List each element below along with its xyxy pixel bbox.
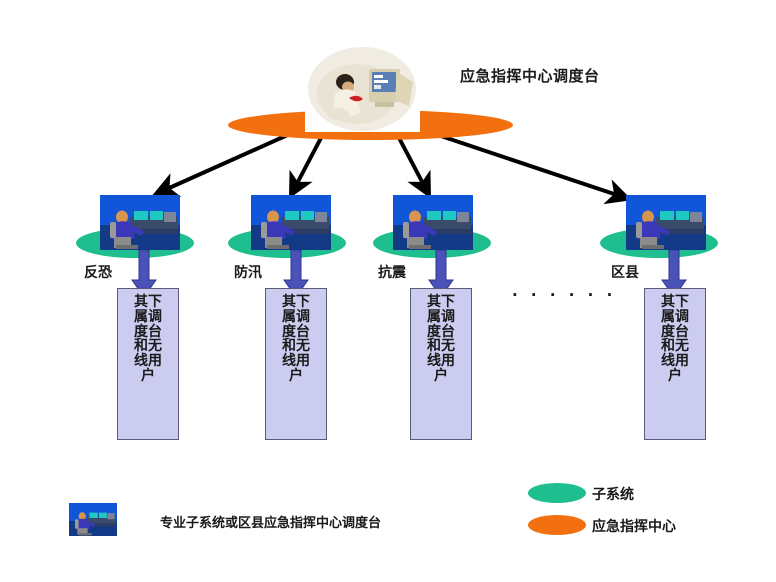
downstream-box-4[interactable]: 其下属调度台和无线用户	[644, 288, 706, 440]
downstream-box-2[interactable]: 其下属调度台和无线用户	[265, 288, 327, 440]
downstream-box-text: 其下属调度台和无线用户	[645, 289, 705, 384]
legend-dispatch-console-icon	[62, 503, 124, 536]
ellipsis-dots: · · · · · ·	[512, 286, 616, 304]
legend-subsystem-ellipse	[528, 483, 586, 503]
dispatch-console-photo	[393, 195, 473, 250]
arrow-root-to-node-2	[292, 136, 322, 193]
dispatch-console-photo	[626, 195, 706, 250]
downstream-box-text: 其下属调度台和无线用户	[411, 289, 471, 384]
legend-command-center-label: 应急指挥中心	[592, 516, 676, 536]
arrow-root-to-node-3	[398, 136, 428, 193]
subsystem-label-2: 防汛	[234, 262, 262, 282]
downstream-box-text: 其下属调度台和无线用户	[118, 289, 178, 384]
dispatch-console-photo	[251, 195, 331, 250]
downstream-box-1[interactable]: 其下属调度台和无线用户	[117, 288, 179, 440]
subsystem-label-1: 反恐	[84, 262, 112, 282]
dispatch-console-photo	[100, 195, 180, 250]
legend-subsystem-label: 子系统	[592, 484, 634, 504]
legend-icon-label: 专业子系统或区县应急指挥中心调度台	[160, 512, 381, 531]
subsystem-label-3: 抗震	[378, 262, 406, 282]
arrow-root-to-node-1	[158, 133, 292, 193]
diagram-canvas: 应急指挥中心调度台 反恐 其下属调度台和无线用户	[0, 0, 776, 582]
subsystem-label-4: 区县	[611, 262, 639, 282]
page-title: 应急指挥中心调度台	[460, 65, 600, 86]
downstream-box-3[interactable]: 其下属调度台和无线用户	[410, 288, 472, 440]
operator-at-computer-photo	[305, 42, 420, 132]
downstream-box-text: 其下属调度台和无线用户	[266, 289, 326, 384]
arrow-root-to-node-4	[432, 133, 626, 198]
legend-command-center-ellipse	[528, 515, 586, 535]
